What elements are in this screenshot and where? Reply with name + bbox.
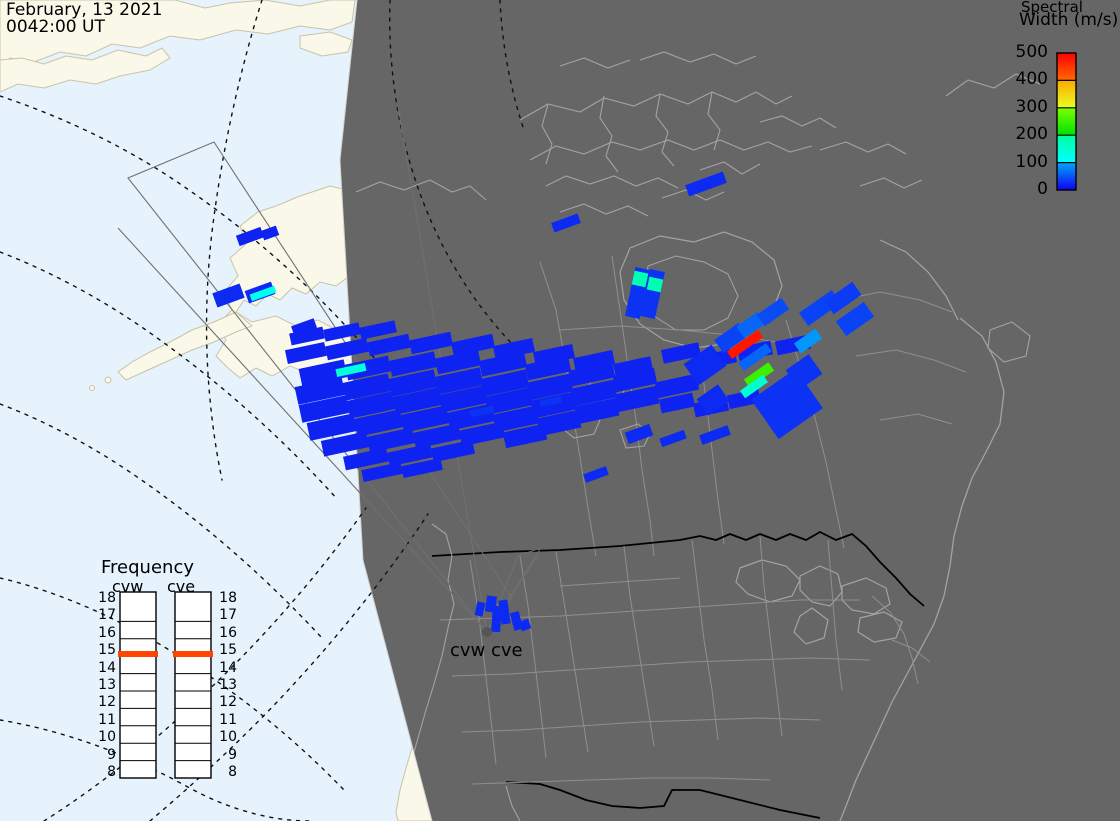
freq-tick-left-12: 12 [92, 695, 116, 709]
freq-column-label-cve: cve [167, 578, 195, 595]
freq-tick-right-11: 11 [213, 713, 237, 727]
colorbar-tick-0: 0 [1008, 181, 1048, 198]
freq-tick-left-10: 10 [92, 730, 116, 744]
colorbar-tick-100: 100 [1008, 154, 1048, 171]
colorbar-tick-300: 300 [1008, 99, 1048, 116]
map-layer [0, 0, 1120, 821]
freq-tick-left-14: 14 [92, 661, 116, 675]
freq-marker-cvw [118, 651, 158, 657]
freq-marker-cve [173, 651, 213, 657]
colorbar-segment-100-200 [1057, 135, 1076, 162]
colorbar-segment-300-400 [1057, 80, 1076, 107]
freq-tick-left-8: 8 [92, 765, 116, 779]
freq-tick-left-11: 11 [92, 713, 116, 727]
freq-tick-right-15: 15 [213, 643, 237, 657]
colorbar [1057, 53, 1076, 190]
freq-tick-left-15: 15 [92, 643, 116, 657]
freq-tick-right-16: 16 [213, 626, 237, 640]
time-label: 0042:00 UT [6, 19, 105, 36]
radar-site-label-cvw: cvw [450, 641, 485, 660]
colorbar-tick-400: 400 [1008, 71, 1048, 88]
freq-tick-right-14: 14 [213, 661, 237, 675]
colorbar-tick-200: 200 [1008, 126, 1048, 143]
freq-tick-right-8: 8 [213, 765, 237, 779]
colorbar-title-line2: Width (m/s) [1019, 11, 1118, 29]
freq-column-label-cvw: cvw [112, 578, 143, 595]
freq-tick-right-9: 9 [213, 748, 237, 762]
superdarn-map-figure: February, 13 2021 0042:00 UT Spectral Wi… [0, 0, 1120, 821]
colorbar-segment-400-500 [1057, 53, 1076, 80]
colorbar-segment-0-100 [1057, 163, 1076, 190]
colorbar-tick-500: 500 [1008, 44, 1048, 61]
freq-tick-left-16: 16 [92, 626, 116, 640]
freq-tick-right-13: 13 [213, 678, 237, 692]
freq-tick-right-12: 12 [213, 695, 237, 709]
freq-bar-cvw [120, 592, 156, 778]
colorbar-segment-200-300 [1057, 108, 1076, 135]
freq-tick-right-17: 17 [213, 608, 237, 622]
radar-site-marker [482, 627, 492, 637]
freq-tick-left-18: 18 [92, 591, 116, 605]
frequency-panel-title: Frequency [101, 558, 194, 577]
freq-tick-right-10: 10 [213, 730, 237, 744]
radar-cell [632, 271, 649, 288]
freq-tick-left-13: 13 [92, 678, 116, 692]
freq-tick-left-9: 9 [92, 748, 116, 762]
radar-site-label-cve: cve [491, 641, 523, 660]
freq-tick-left-17: 17 [92, 608, 116, 622]
freq-bar-cve [175, 592, 211, 778]
freq-tick-right-18: 18 [213, 591, 237, 605]
